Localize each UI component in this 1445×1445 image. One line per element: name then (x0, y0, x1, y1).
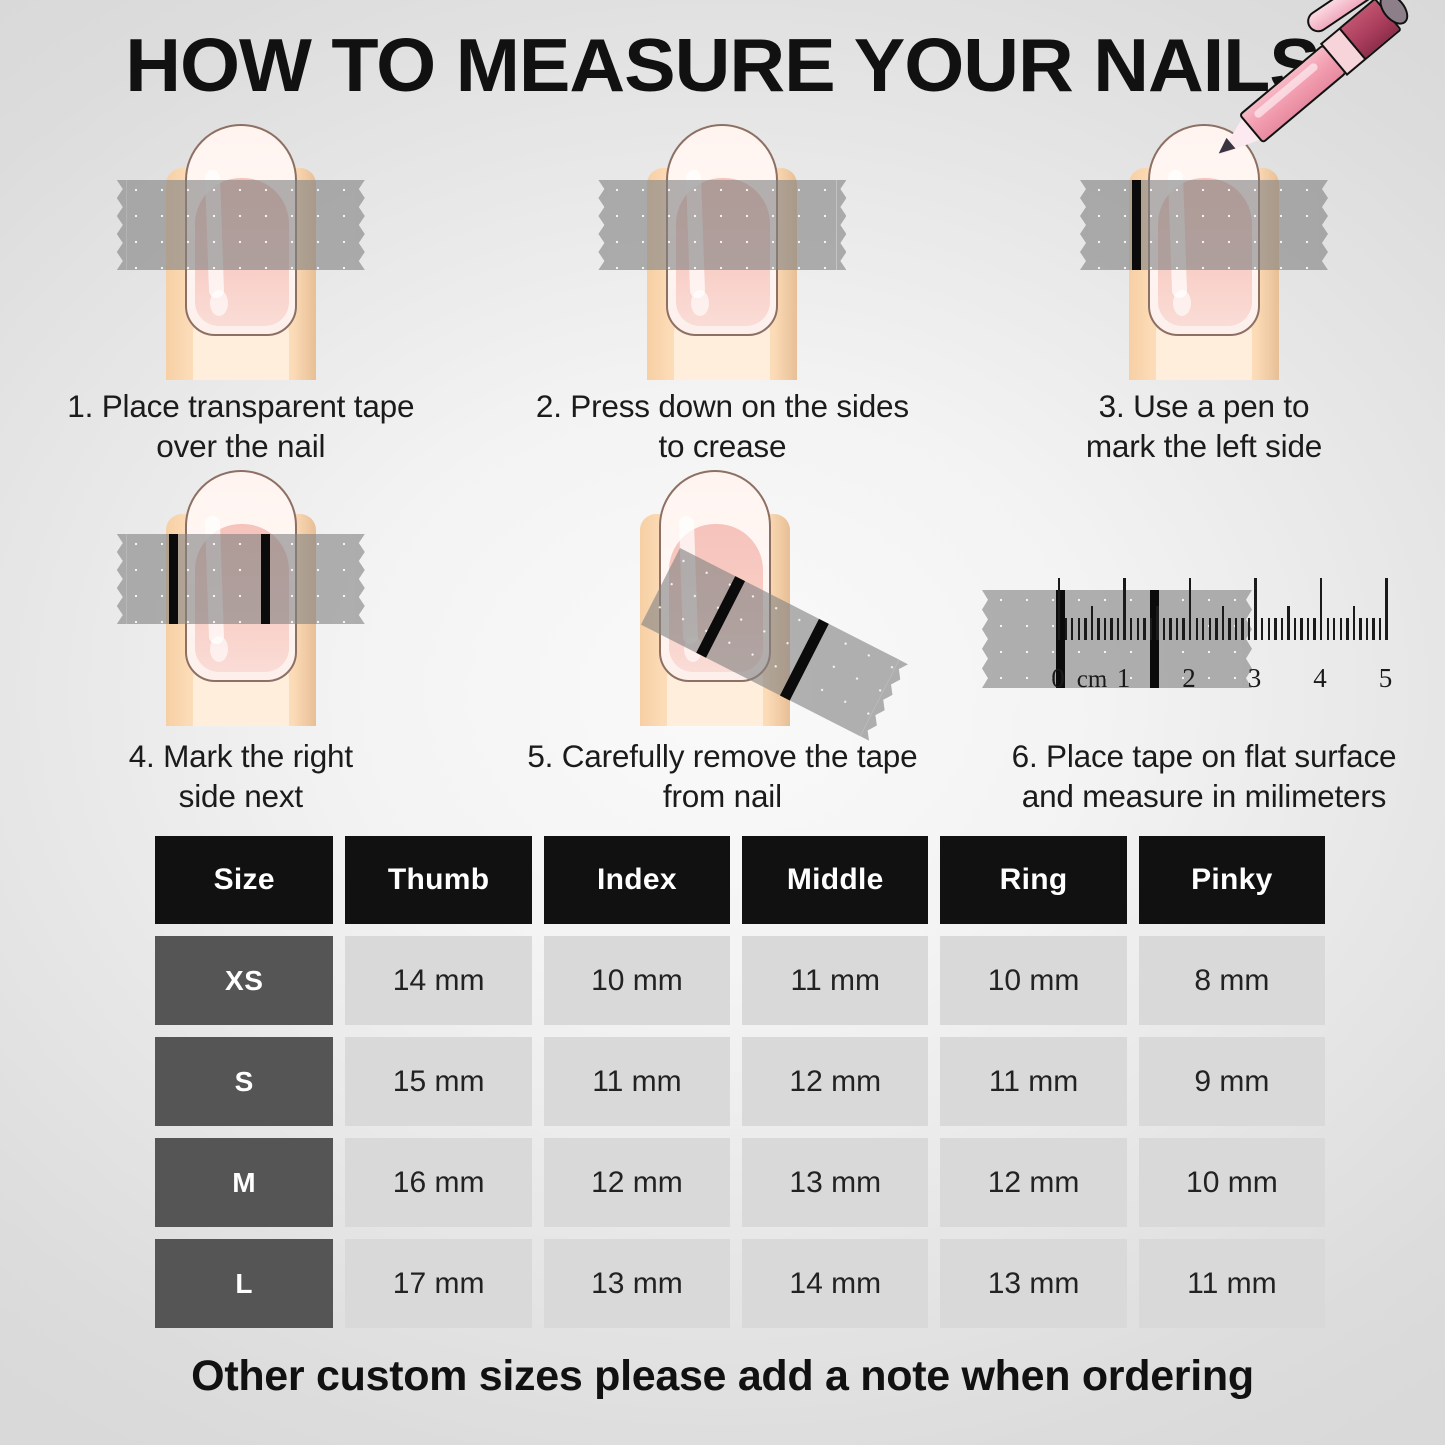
size-label-l: L (155, 1239, 333, 1328)
ruler-tick (1143, 618, 1145, 640)
ruler-tick (1209, 618, 1211, 640)
table-cell: 12 mm (544, 1138, 730, 1227)
tape-right-zigzag-edge (355, 180, 365, 270)
table-header-row: SizeThumbIndexMiddleRingPinky (155, 836, 1325, 924)
table-cell: 13 mm (742, 1138, 928, 1227)
ruler-tick (1182, 618, 1184, 640)
nail-highlight-dot (210, 290, 228, 316)
table-row: S15 mm11 mm12 mm11 mm9 mm (155, 1037, 1325, 1126)
ruler-tick (1313, 618, 1315, 640)
step-3: 3. Use a pen tomark the left side (963, 112, 1445, 466)
right-pen-mark (261, 534, 270, 624)
left-pen-mark (1132, 180, 1141, 270)
ruler-tick (1071, 618, 1073, 640)
ruler-tick (1189, 578, 1191, 640)
tape-strip-icon (1090, 180, 1318, 270)
step-4-caption: 4. Mark the rightside next (26, 736, 456, 816)
tape-right-zigzag-edge (861, 660, 909, 741)
ruler-tick (1097, 618, 1099, 640)
table-cell: 10 mm (544, 936, 730, 1025)
tape-right-zigzag-edge (355, 534, 365, 624)
table-cell: 11 mm (544, 1037, 730, 1126)
tape-left-zigzag-edge (598, 180, 608, 270)
steps-grid: 1. Place transparent tapeover the nail (0, 112, 1445, 816)
ruler-tick (1372, 618, 1374, 640)
ruler-tick (1228, 618, 1230, 640)
ruler-tick (1091, 606, 1093, 640)
ruler-tick (1137, 618, 1139, 640)
ruler-tick (1150, 618, 1152, 640)
tape-left-zigzag-edge (1080, 180, 1090, 270)
table-cell: 17 mm (345, 1239, 531, 1328)
ruler-tick (1202, 618, 1204, 640)
table-row: XS14 mm10 mm11 mm10 mm8 mm (155, 936, 1325, 1025)
table-body: XS14 mm10 mm11 mm10 mm8 mmS15 mm11 mm12 … (155, 936, 1325, 1328)
step-6: 012345cm 6. Place tape on flat surfacean… (963, 466, 1445, 816)
tape-strip-icon (127, 180, 355, 270)
ruler-tick (1379, 618, 1381, 640)
ruler-tick (1281, 618, 1283, 640)
table-cell: 10 mm (940, 936, 1126, 1025)
size-chart-table: SizeThumbIndexMiddleRingPinky XS14 mm10 … (155, 836, 1325, 1340)
ruler-tick (1268, 618, 1270, 640)
steps-row-2: 4. Mark the rightside next (0, 466, 1445, 816)
ruler-tick (1084, 618, 1086, 640)
ruler-tick (1261, 618, 1263, 640)
size-label-s: S (155, 1037, 333, 1126)
steps-row-1: 1. Place transparent tapeover the nail (0, 112, 1445, 466)
ruler-tick (1163, 618, 1165, 640)
ruler-unit-label: cm (1077, 666, 1108, 694)
step-3-illustration (974, 112, 1434, 380)
step-6-caption: 6. Place tape on flat surfaceand measure… (989, 736, 1419, 816)
step-6-illustration: 012345cm (974, 466, 1434, 726)
ruler-tick (1215, 618, 1217, 640)
tape-left-zigzag-edge (982, 590, 992, 688)
ruler-tick (1320, 578, 1322, 640)
step-5-illustration (492, 466, 952, 726)
tape-strip-icon (608, 180, 836, 270)
step-2-illustration (492, 112, 952, 380)
table-header-pinky: Pinky (1139, 836, 1325, 924)
ruler-tick (1248, 618, 1250, 640)
ruler-tick (1222, 606, 1224, 640)
tape-left-zigzag-edge (117, 534, 127, 624)
ruler-tick (1169, 618, 1171, 640)
table-cell: 8 mm (1139, 936, 1325, 1025)
tape-right-zigzag-edge (1318, 180, 1328, 270)
ruler-tick (1058, 578, 1060, 640)
table-cell: 9 mm (1139, 1037, 1325, 1126)
infographic-page: HOW TO MEASURE YOUR NAILS (0, 0, 1445, 1445)
ruler-tick (1123, 578, 1125, 640)
ruler-tick (1196, 618, 1198, 640)
ruler-tick (1346, 618, 1348, 640)
table-cell: 13 mm (940, 1239, 1126, 1328)
table-cell: 12 mm (940, 1138, 1126, 1227)
step-5-caption: 5. Carefully remove the tapefrom nail (507, 736, 937, 816)
ruler-tick (1385, 578, 1387, 640)
table-header-size: Size (155, 836, 333, 924)
table-cell: 11 mm (1139, 1239, 1325, 1328)
table-header-ring: Ring (940, 836, 1126, 924)
table-cell: 11 mm (940, 1037, 1126, 1126)
ruler-label: 4 (1313, 663, 1327, 694)
table-header-index: Index (544, 836, 730, 924)
step-1: 1. Place transparent tapeover the nail (0, 112, 482, 466)
ruler-label: 0 (1051, 663, 1065, 694)
table-cell: 10 mm (1139, 1138, 1325, 1227)
tape-strip-icon (127, 534, 355, 624)
ruler-tick (1274, 618, 1276, 640)
step-1-caption: 1. Place transparent tapeover the nail (26, 386, 456, 466)
ruler-tick (1117, 618, 1119, 640)
table-cell: 11 mm (742, 936, 928, 1025)
ruler-tick (1307, 618, 1309, 640)
ruler-tick (1359, 618, 1361, 640)
ruler-tick (1327, 618, 1329, 640)
step-2-caption: 2. Press down on the sidesto crease (507, 386, 937, 466)
ruler-tick (1130, 618, 1132, 640)
page-title: HOW TO MEASURE YOUR NAILS (0, 22, 1445, 108)
step-5: 5. Carefully remove the tapefrom nail (482, 466, 964, 816)
ruler-tick (1104, 618, 1106, 640)
ruler-tick (1333, 618, 1335, 640)
table-row: L17 mm13 mm14 mm13 mm11 mm (155, 1239, 1325, 1328)
step-4-illustration (11, 466, 471, 726)
ruler-tick (1241, 618, 1243, 640)
ruler-tick (1300, 618, 1302, 640)
left-pen-mark (697, 576, 746, 658)
ruler-tick (1078, 618, 1080, 640)
step-1-illustration (11, 112, 471, 380)
table-row: M16 mm12 mm13 mm12 mm10 mm (155, 1138, 1325, 1227)
nail-highlight-dot (210, 636, 228, 662)
size-label-xs: XS (155, 936, 333, 1025)
table-cell: 14 mm (345, 936, 531, 1025)
ruler-label: 3 (1248, 663, 1262, 694)
step-2: 2. Press down on the sidesto crease (482, 112, 964, 466)
tape-right-zigzag-edge (836, 180, 846, 270)
ruler-tick (1156, 606, 1158, 640)
table-cell: 16 mm (345, 1138, 531, 1227)
ruler-tick (1294, 618, 1296, 640)
right-pen-mark (780, 619, 829, 701)
step-3-caption: 3. Use a pen tomark the left side (989, 386, 1419, 466)
ruler-tick (1176, 618, 1178, 640)
ruler-tick (1110, 618, 1112, 640)
ruler-tick (1340, 618, 1342, 640)
ruler-tick (1235, 618, 1237, 640)
ruler-label: 5 (1379, 663, 1393, 694)
tape-left-zigzag-edge (117, 180, 127, 270)
table-cell: 15 mm (345, 1037, 531, 1126)
nail-highlight-dot (1173, 290, 1191, 316)
left-pen-mark (169, 534, 178, 624)
table-cell: 14 mm (742, 1239, 928, 1328)
ruler-tick (1353, 606, 1355, 640)
ruler-tick (1254, 578, 1256, 640)
footer-note: Other custom sizes please add a note whe… (0, 1352, 1445, 1401)
ruler-tick (1065, 618, 1067, 640)
ruler-tick (1366, 618, 1368, 640)
ruler-label: 2 (1182, 663, 1196, 694)
table-header-middle: Middle (742, 836, 928, 924)
ruler-icon: 012345cm (992, 578, 1416, 698)
table-cell: 12 mm (742, 1037, 928, 1126)
size-label-m: M (155, 1138, 333, 1227)
ruler-tick (1287, 606, 1289, 640)
nail-highlight-dot (691, 290, 709, 316)
ruler-label: 1 (1117, 663, 1131, 694)
step-4: 4. Mark the rightside next (0, 466, 482, 816)
table-cell: 13 mm (544, 1239, 730, 1328)
table-header-thumb: Thumb (345, 836, 531, 924)
